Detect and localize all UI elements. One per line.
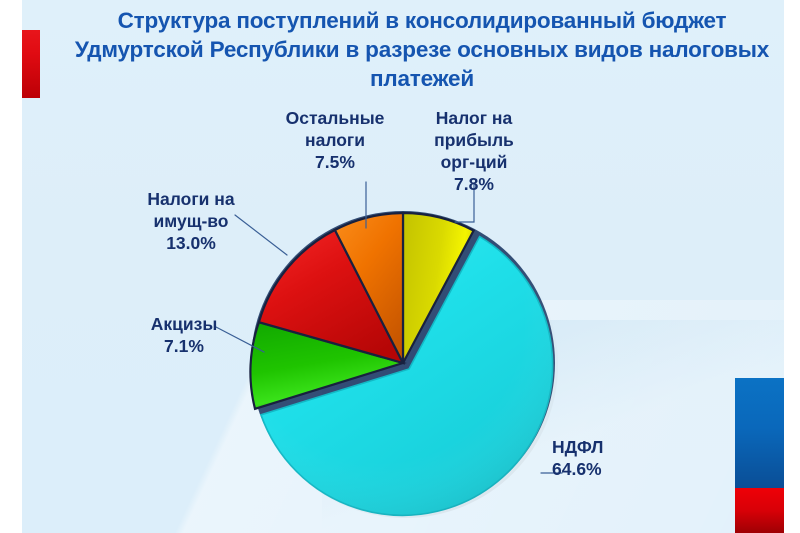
- pie-label-ostalnye-percent: 7.5%: [270, 151, 400, 173]
- accent-bar-right: [735, 378, 784, 533]
- pie-label-ostalnye-nalogi: Остальные налоги 7.5%: [270, 107, 400, 173]
- pie-label-imush-percent: 13.0%: [122, 232, 260, 254]
- pie-label-pribyl-line3: орг-ций: [441, 152, 508, 172]
- pie-label-akcizy: Акцизы 7.1%: [122, 313, 246, 357]
- accent-bar-right-blue: [735, 378, 784, 488]
- pie-label-akcizy-percent: 7.1%: [122, 335, 246, 357]
- pie-label-ndfl-percent: 64.6%: [552, 458, 662, 480]
- pie-label-ndfl: НДФЛ 64.6%: [552, 436, 662, 480]
- accent-bar-left: [22, 30, 40, 98]
- pie-label-ostalnye-line1: Остальные: [286, 108, 385, 128]
- pie-chart: Остальные налоги 7.5% Налог на прибыль о…: [22, 0, 784, 533]
- pie-label-akcizy-line1: Акцизы: [151, 314, 218, 334]
- pie-label-nalog-na-pribyl: Налог на прибыль орг-ций 7.8%: [412, 107, 536, 195]
- pie-label-ostalnye-line2: налоги: [305, 130, 365, 150]
- pie-label-nalogi-na-imushchestvo: Налоги на имущ-во 13.0%: [122, 188, 260, 254]
- pie-label-imush-line2: имущ-во: [153, 211, 228, 231]
- slide: Структура поступлений в консолидированны…: [0, 0, 800, 533]
- pie-label-imush-line1: Налоги на: [147, 189, 234, 209]
- pie-chart-svg: [22, 0, 784, 533]
- pie-label-pribyl-percent: 7.8%: [412, 173, 536, 195]
- slide-canvas: Структура поступлений в консолидированны…: [22, 0, 784, 533]
- pie-label-pribyl-line1: Налог на: [436, 108, 512, 128]
- accent-bar-right-red: [735, 488, 784, 533]
- pie-label-pribyl-line2: прибыль: [434, 130, 514, 150]
- pie-label-ndfl-line1: НДФЛ: [552, 437, 603, 457]
